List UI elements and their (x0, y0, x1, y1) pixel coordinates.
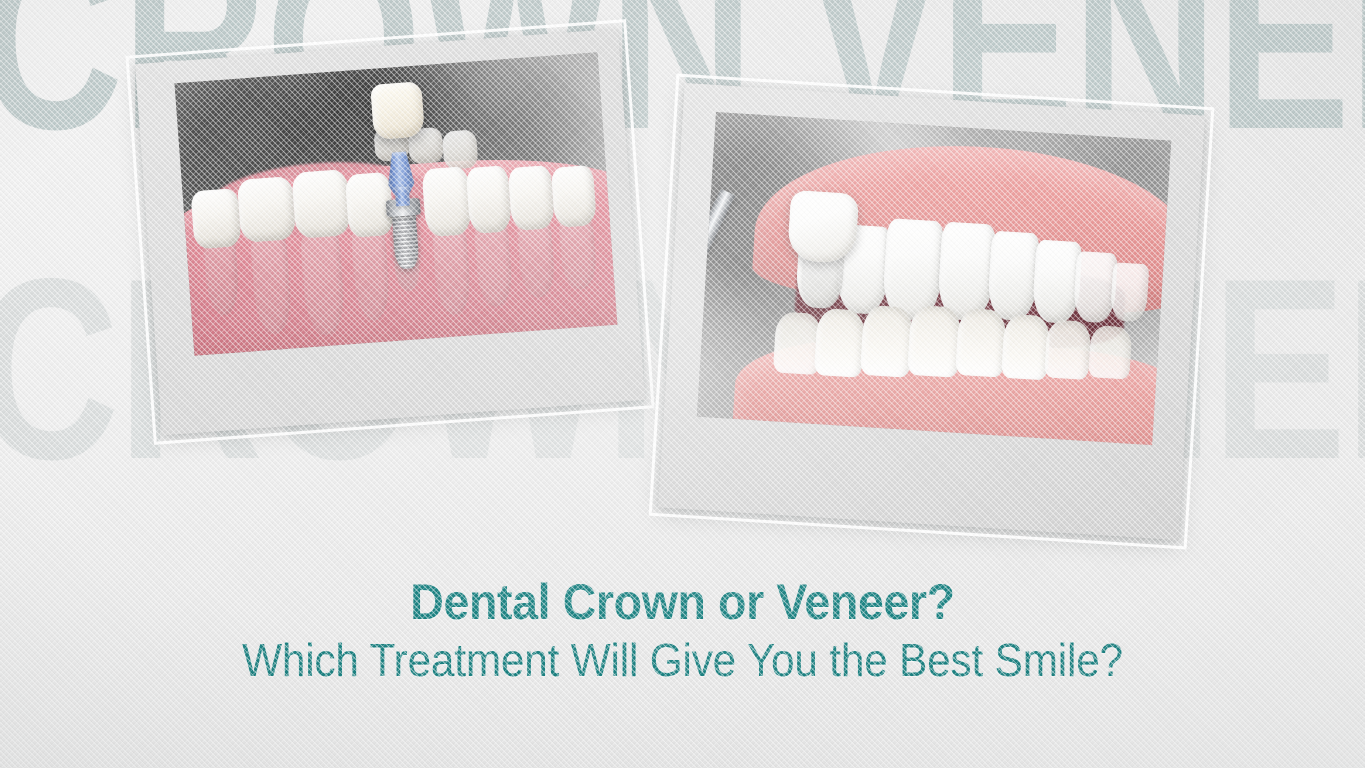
molar-tooth (292, 169, 352, 238)
lower-tooth (955, 308, 1007, 378)
implant-photo-frame (135, 29, 645, 435)
molar-tooth (191, 188, 242, 249)
page-subtitle: Which Treatment Will Give You the Best S… (55, 635, 1311, 686)
abutment-neck (395, 187, 410, 207)
lower-tooth (859, 305, 913, 378)
implant-photo (175, 52, 618, 355)
incisor-tooth (508, 165, 555, 231)
veneer-photo-frame (658, 83, 1205, 540)
page-title: Dental Crown or Veneer? (48, 576, 1317, 629)
back-tooth (442, 130, 479, 171)
floating-crown (370, 82, 425, 140)
lower-tooth (1088, 325, 1132, 379)
incisor-tooth (466, 166, 513, 234)
lower-tooth (814, 308, 866, 378)
veneer-photo (697, 112, 1171, 445)
lower-tooth (1001, 314, 1051, 381)
headline-block: Dental Crown or Veneer? Which Treatment … (0, 576, 1365, 685)
molar-tooth (237, 176, 297, 243)
lower-tooth (1044, 319, 1091, 380)
poster-canvas: CROWN VENEER CROWN VENEER CROWN VENEER (0, 0, 1365, 768)
canine-tooth (421, 166, 472, 237)
lower-tooth (907, 305, 961, 378)
incisor-tooth (551, 165, 598, 228)
